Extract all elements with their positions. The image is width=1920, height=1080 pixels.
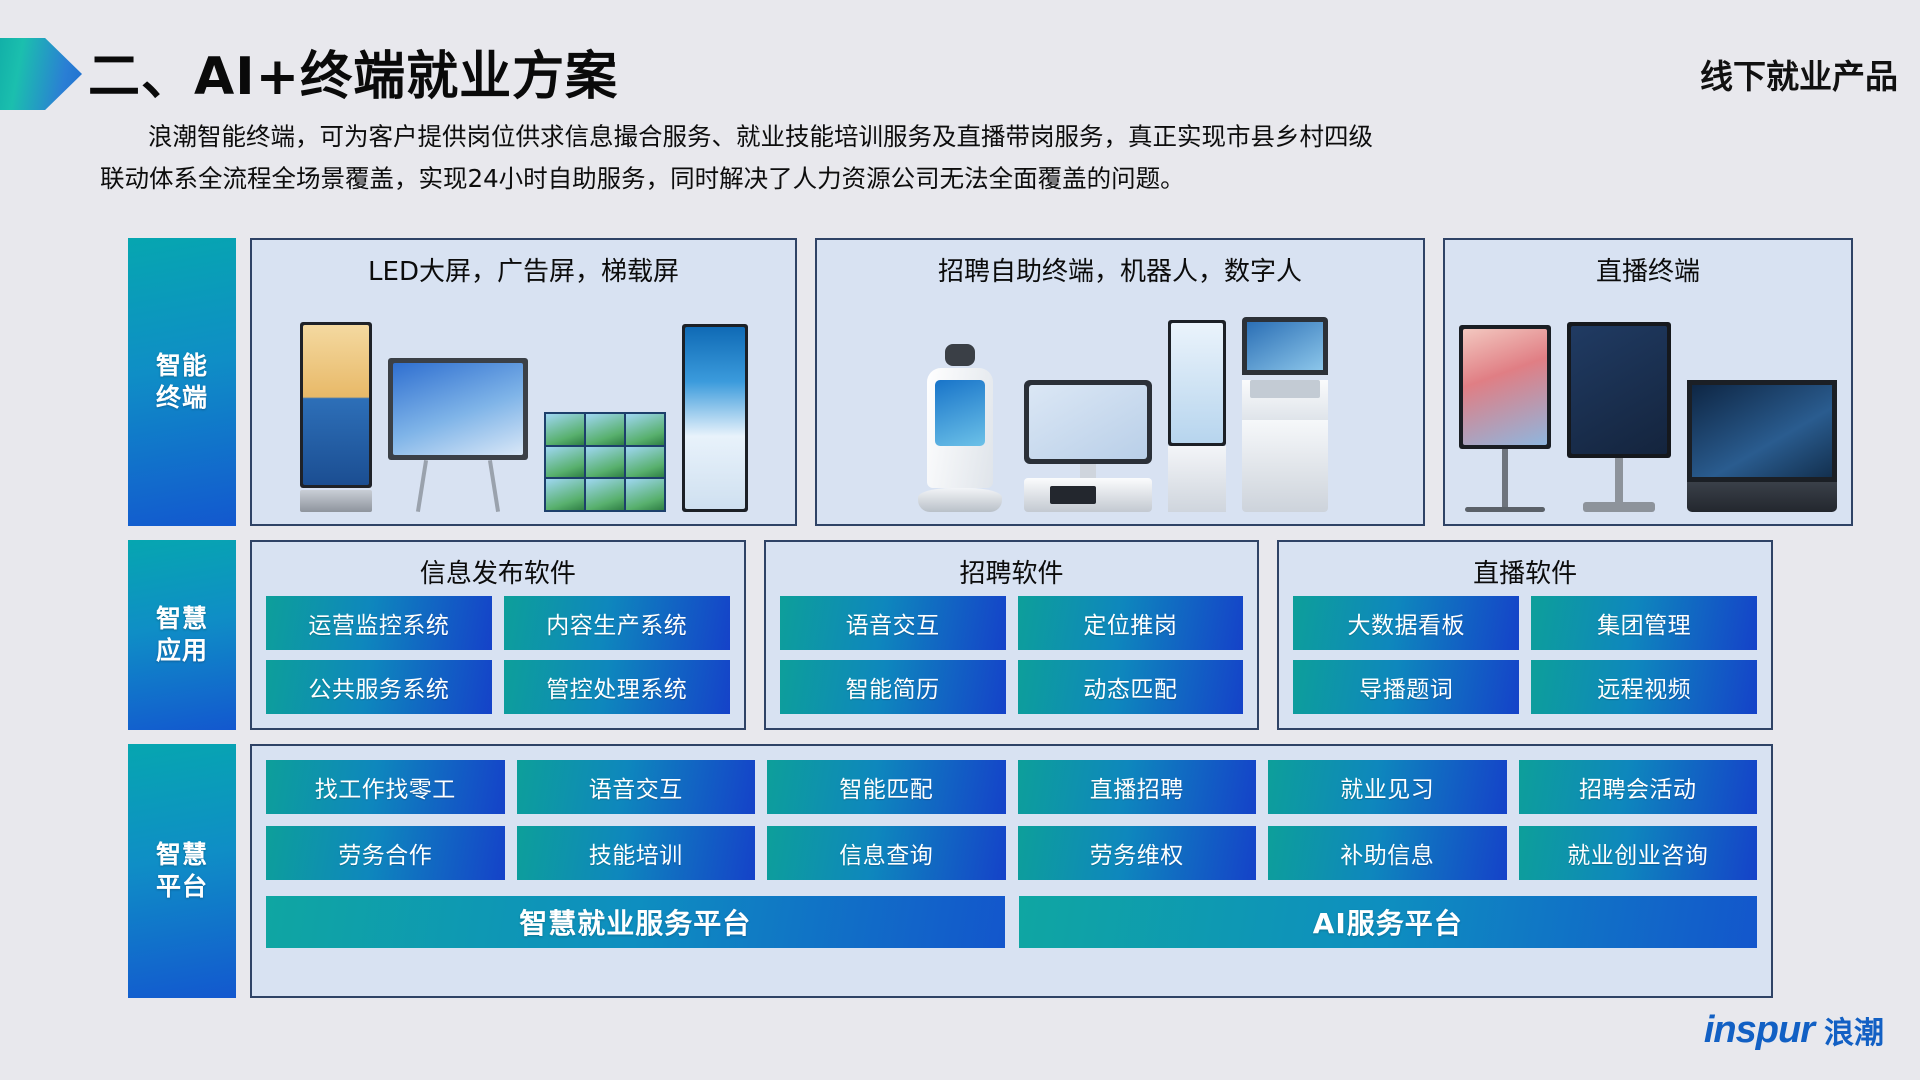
brand-name-cn: 浪潮 xyxy=(1824,1008,1884,1052)
device-tablet-dock-icon xyxy=(1024,380,1152,512)
tile-grid-recruit-software: 语音交互 定位推岗 智能简历 动态匹配 xyxy=(766,596,1258,714)
tile-app[interactable]: 内容生产系统 xyxy=(504,596,730,650)
tile-service[interactable]: 信息查询 xyxy=(767,826,1006,880)
row-label-smart-terminals: 智能 终端 xyxy=(128,238,236,526)
platform-bar-employment-service[interactable]: 智慧就业服务平台 xyxy=(266,896,1005,948)
panel-title-recruit-kiosks: 招聘自助终端，机器人，数字人 xyxy=(938,240,1302,294)
row-label-line-1: 智慧 xyxy=(156,840,208,869)
tile-app[interactable]: 定位推岗 xyxy=(1018,596,1244,650)
device-group-kiosks xyxy=(817,294,1423,524)
tile-grid-info-publish: 运营监控系统 内容生产系统 公共服务系统 管控处理系统 xyxy=(252,596,744,714)
brand-logo: inspur 浪潮 xyxy=(1704,1008,1884,1052)
tile-service[interactable]: 招聘会活动 xyxy=(1519,760,1758,814)
device-elevator-poster-icon xyxy=(682,324,748,512)
panel-led-screens: LED大屏，广告屏，梯载屏 xyxy=(250,238,797,526)
panel-info-publish-software: 信息发布软件 运营监控系统 内容生产系统 公共服务系统 管控处理系统 xyxy=(250,540,746,730)
device-slim-terminal-icon xyxy=(1168,320,1226,512)
panel-title-live-terminals: 直播终端 xyxy=(1596,240,1700,294)
row-smart-terminals: 智能 终端 LED大屏，广告屏，梯载屏 xyxy=(128,238,1773,526)
row-label-line-1: 智慧 xyxy=(156,604,208,633)
device-studio-monitor-icon xyxy=(1567,322,1671,512)
panel-recruit-kiosks: 招聘自助终端，机器人，数字人 xyxy=(815,238,1425,526)
panel-platform-services: 找工作找零工 语音交互 智能匹配 直播招聘 就业见习 招聘会活动 劳务合作 技能… xyxy=(250,744,1773,998)
intro-line-1: 浪潮智能终端，可为客户提供岗位供求信息撮合服务、就业技能培训服务及直播带岗服务，… xyxy=(100,116,1760,158)
tile-app[interactable]: 公共服务系统 xyxy=(266,660,492,714)
intro-line-2: 联动体系全流程全场景覆盖，实现24小时自助服务，同时解决了人力资源公司无法全面覆… xyxy=(100,158,1760,200)
intro-paragraph: 浪潮智能终端，可为客户提供岗位供求信息撮合服务、就业技能培训服务及直播带岗服务，… xyxy=(100,116,1760,200)
tile-app[interactable]: 管控处理系统 xyxy=(504,660,730,714)
tile-service[interactable]: 劳务维权 xyxy=(1018,826,1257,880)
tile-service[interactable]: 就业创业咨询 xyxy=(1519,826,1758,880)
row-label-line-2: 应用 xyxy=(156,636,208,665)
panel-live-software: 直播软件 大数据看板 集团管理 导播题词 远程视频 xyxy=(1277,540,1773,730)
platform-bar-row: 智慧就业服务平台 AI服务平台 xyxy=(266,896,1757,948)
row-label-line-2: 平台 xyxy=(156,872,208,901)
tile-app[interactable]: 集团管理 xyxy=(1531,596,1757,650)
tile-service[interactable]: 找工作找零工 xyxy=(266,760,505,814)
page-title: 二、AI+终端就业方案 xyxy=(88,34,618,109)
tile-app[interactable]: 导播题词 xyxy=(1293,660,1519,714)
row-label-smart-platform: 智慧 平台 xyxy=(128,744,236,998)
row-label-line-2: 终端 xyxy=(156,383,208,412)
device-kiosk-poster-icon xyxy=(300,322,372,512)
tile-service[interactable]: 就业见习 xyxy=(1268,760,1507,814)
tile-app[interactable]: 智能简历 xyxy=(780,660,1006,714)
row-smart-applications: 智慧 应用 信息发布软件 运营监控系统 内容生产系统 公共服务系统 管控处理系统… xyxy=(128,540,1773,730)
tile-app[interactable]: 大数据看板 xyxy=(1293,596,1519,650)
device-group-led xyxy=(252,294,795,524)
tile-service[interactable]: 直播招聘 xyxy=(1018,760,1257,814)
slide-header: 二、AI+终端就业方案 线下就业产品 xyxy=(0,38,1920,110)
panel-live-terminals: 直播终端 xyxy=(1443,238,1853,526)
platform-bar-ai-service[interactable]: AI服务平台 xyxy=(1019,896,1758,948)
panel-title-led-screens: LED大屏，广告屏，梯载屏 xyxy=(368,240,679,294)
tile-service[interactable]: 劳务合作 xyxy=(266,826,505,880)
tile-grid-live-software: 大数据看板 集团管理 导播题词 远程视频 xyxy=(1279,596,1771,714)
panel-recruit-software: 招聘软件 语音交互 定位推岗 智能简历 动态匹配 xyxy=(764,540,1260,730)
device-video-wall-icon xyxy=(544,412,666,512)
tile-service[interactable]: 语音交互 xyxy=(517,760,756,814)
brand-name-en: inspur xyxy=(1704,1009,1814,1052)
tile-service[interactable]: 补助信息 xyxy=(1268,826,1507,880)
panel-title-recruit-software: 招聘软件 xyxy=(960,542,1064,596)
row-label-smart-applications: 智慧 应用 xyxy=(128,540,236,730)
panel-title-live-software: 直播软件 xyxy=(1473,542,1577,596)
device-portable-studio-case-icon xyxy=(1687,380,1837,512)
tile-app[interactable]: 远程视频 xyxy=(1531,660,1757,714)
device-self-service-atm-icon xyxy=(1242,317,1328,512)
panel-title-info-publish: 信息发布软件 xyxy=(420,542,576,596)
tile-app[interactable]: 语音交互 xyxy=(780,596,1006,650)
tile-app[interactable]: 动态匹配 xyxy=(1018,660,1244,714)
tile-grid-platform-services: 找工作找零工 语音交互 智能匹配 直播招聘 就业见习 招聘会活动 劳务合作 技能… xyxy=(266,760,1757,880)
arrow-marker-icon xyxy=(0,38,82,110)
tile-service[interactable]: 智能匹配 xyxy=(767,760,1006,814)
architecture-board: 智能 终端 LED大屏，广告屏，梯载屏 xyxy=(128,238,1773,998)
row-label-line-1: 智能 xyxy=(156,351,208,380)
device-interactive-whiteboard-icon xyxy=(388,358,528,512)
tile-service[interactable]: 技能培训 xyxy=(517,826,756,880)
device-mobile-ad-screen-icon xyxy=(1459,325,1551,512)
tile-app[interactable]: 运营监控系统 xyxy=(266,596,492,650)
row-smart-platform: 智慧 平台 找工作找零工 语音交互 智能匹配 直播招聘 就业见习 招聘会活动 劳… xyxy=(128,744,1773,998)
device-group-live xyxy=(1445,294,1851,524)
header-right-label: 线下就业产品 xyxy=(1700,50,1898,98)
device-service-robot-icon xyxy=(912,344,1008,512)
